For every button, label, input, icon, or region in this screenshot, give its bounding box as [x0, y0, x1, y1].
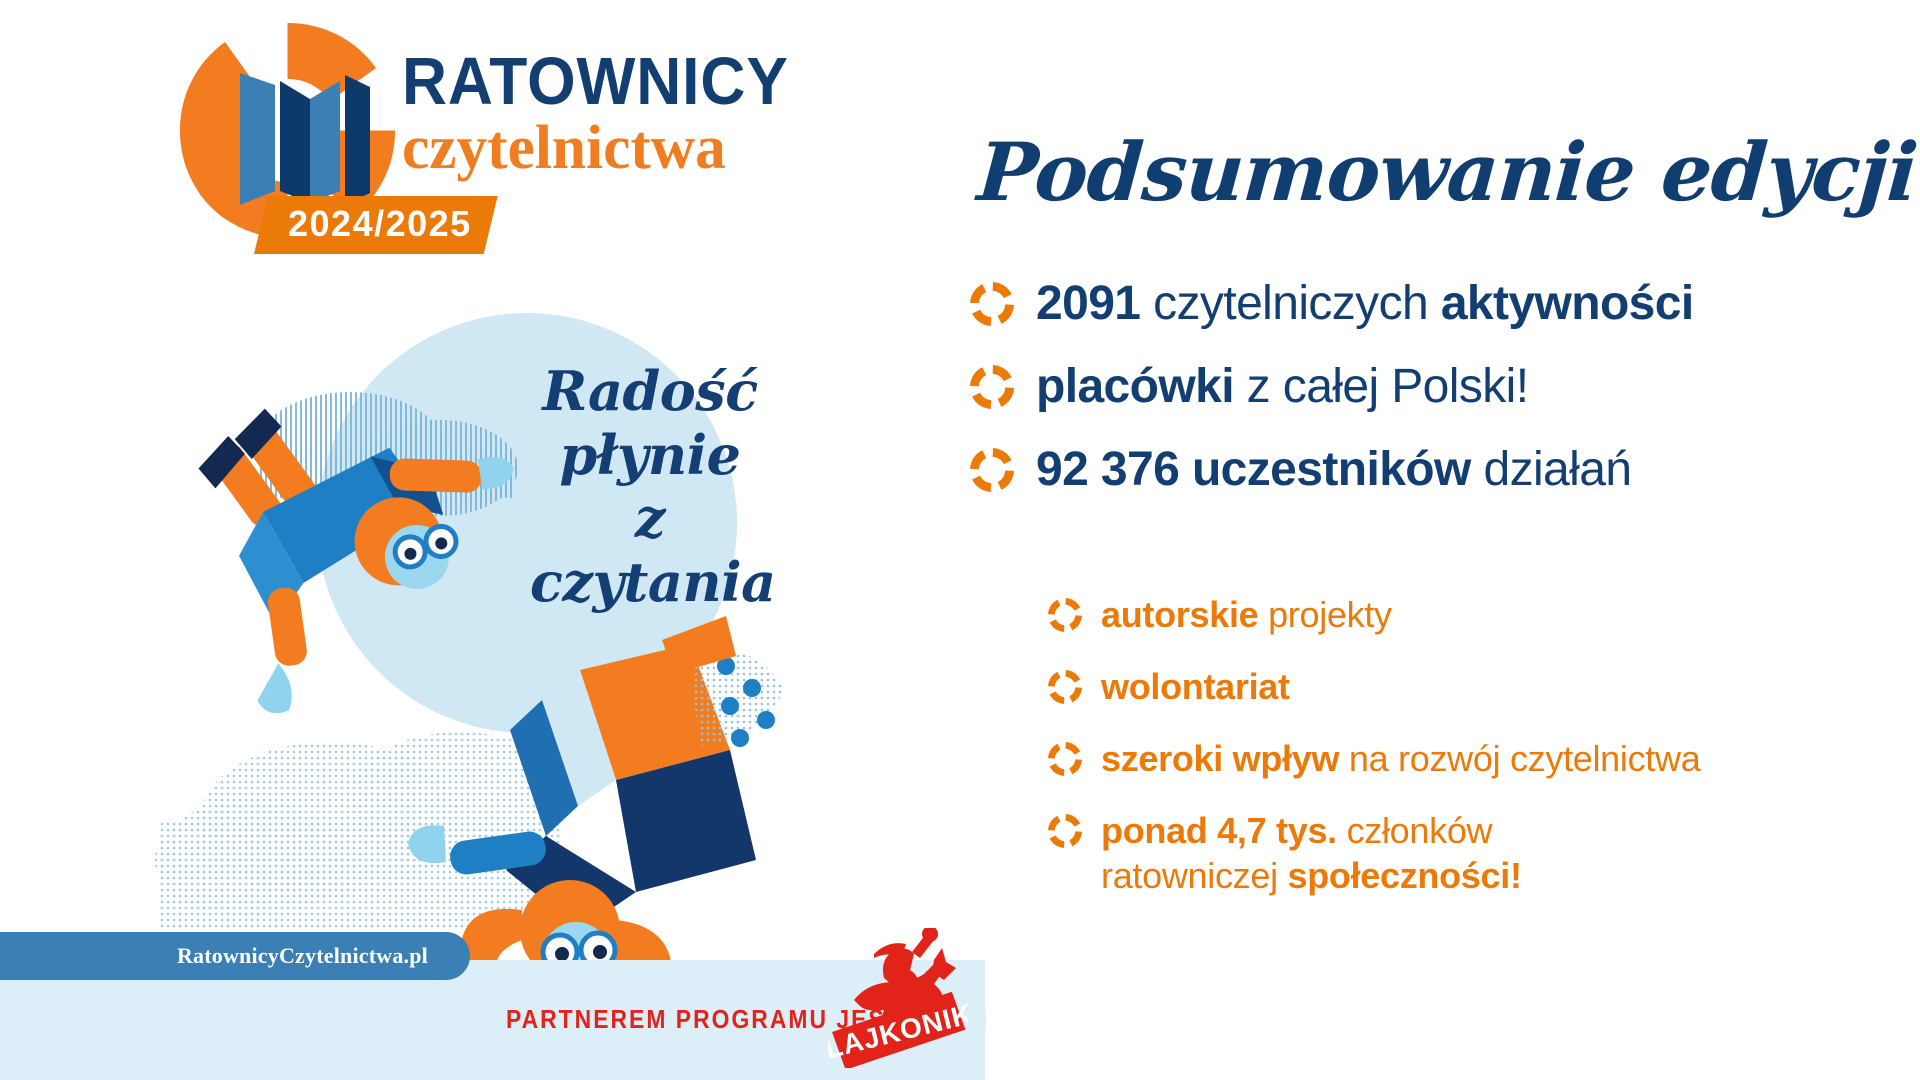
website-url: RatownicyCzytelnictwa.pl [177, 943, 428, 969]
highlight-plain: na rozwój czytelnictwa [1339, 738, 1700, 779]
lifebuoy-icon [970, 448, 1014, 492]
highlight-emphasis-2: społeczności! [1287, 855, 1521, 896]
highlight-plain-2: ratowniczej [1101, 855, 1287, 896]
summary-column: Podsumowanie edycji! 2091 czytelniczych … [960, 0, 1920, 1080]
stat-row: 92 376 uczestników działań [970, 442, 1900, 497]
highlight-label: szeroki wpływ na rozwój czytelnictwa [1101, 736, 1700, 781]
highlight-emphasis: szeroki wpływ [1101, 738, 1339, 779]
logo-wordmark: RATOWNICY czytelnictwa [402, 50, 818, 181]
highlight-label: ponad 4,7 tys. członkówratowniczej społe… [1101, 808, 1522, 898]
quote-line-2: płynie [530, 424, 770, 488]
lifebuoy-icon [970, 282, 1014, 326]
key-stats-list: 2091 czytelniczych aktywności placówki z… [970, 276, 1900, 525]
stat-label: placówki z całej Polski! [1036, 359, 1528, 414]
highlight-label: autorskie projekty [1101, 592, 1392, 637]
lifebuoy-icon [1048, 670, 1082, 704]
stat-value: 92 376 uczestników [1036, 443, 1471, 496]
logo-line-ratownicy: RATOWNICY [402, 50, 789, 114]
poster-canvas: RATOWNICY czytelnictwa 2024/2025 [0, 0, 1920, 1080]
stat-row: placówki z całej Polski! [970, 359, 1900, 414]
highlight-emphasis: autorskie [1101, 594, 1258, 635]
page-title: Podsumowanie edycji! [975, 125, 1920, 219]
highlight-label: wolontariat [1101, 664, 1290, 709]
highlight-emphasis: wolontariat [1101, 666, 1290, 707]
year-badge: 2024/2025 [254, 196, 498, 254]
stat-label: 92 376 uczestników działań [1036, 442, 1631, 497]
highlights-list: autorskie projekty wolontariat szeroki w… [1048, 592, 1920, 925]
lifebuoy-icon [1048, 814, 1082, 848]
stat-plain: działań [1471, 443, 1632, 496]
stat-plain: z całej Polski! [1234, 360, 1529, 413]
lifebuoy-icon [1048, 742, 1082, 776]
stat-value: 2091 [1036, 277, 1140, 330]
list-item: ponad 4,7 tys. członkówratowniczej społe… [1048, 808, 1920, 898]
list-item: szeroki wpływ na rozwój czytelnictwa [1048, 736, 1920, 781]
stat-row: 2091 czytelniczych aktywności [970, 276, 1900, 331]
lifebuoy-icon [1048, 598, 1082, 632]
highlight-plain: członków [1337, 810, 1492, 851]
stat-emphasis: aktywności [1441, 277, 1694, 330]
highlight-emphasis: ponad 4,7 tys. [1101, 810, 1337, 851]
quote-line-1: Radość [530, 360, 770, 424]
stat-label: 2091 czytelniczych aktywności [1036, 276, 1694, 331]
list-item: autorskie projekty [1048, 592, 1920, 637]
highlight-plain: projekty [1258, 594, 1391, 635]
list-item: wolontariat [1048, 664, 1920, 709]
quote-line-3: z czytania [530, 487, 770, 614]
stat-plain: czytelniczych [1140, 277, 1440, 330]
lifebuoy-icon [970, 365, 1014, 409]
lajkonik-horse-rider-icon: LAJKONIK [828, 928, 968, 1068]
website-bar[interactable]: RatownicyCzytelnictwa.pl [0, 932, 470, 980]
stat-value: placówki [1036, 360, 1234, 413]
logo-line-czytelnictwa: czytelnictwa [402, 116, 814, 181]
decorative-quote: Radość płynie z czytania [530, 360, 770, 615]
